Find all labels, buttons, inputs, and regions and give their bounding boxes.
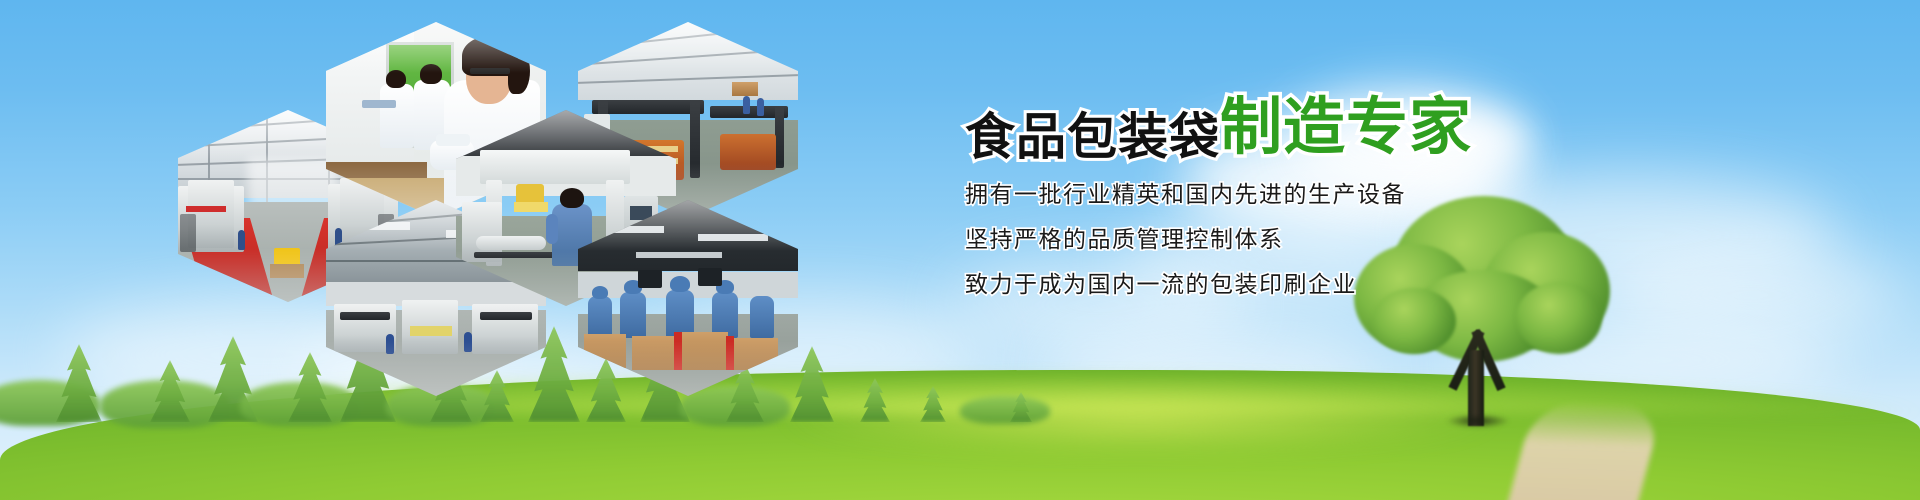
bush-icon xyxy=(960,396,1050,424)
promo-banner: 食品包装袋制造专家 拥有一批行业精英和国内先进的生产设备 坚持严格的品质管理控制… xyxy=(0,0,1920,500)
headline: 食品包装袋制造专家 xyxy=(965,96,1825,162)
headline-accent: 制造专家 xyxy=(1220,90,1472,163)
subline-1: 拥有一批行业精英和国内先进的生产设备 xyxy=(965,184,1825,207)
subline-3: 致力于成为国内一流的包装印刷企业 xyxy=(965,274,1825,297)
banner-copy: 食品包装袋制造专家 拥有一批行业精英和国内先进的生产设备 坚持严格的品质管理控制… xyxy=(965,96,1825,319)
subline-list: 拥有一批行业精英和国内先进的生产设备 坚持严格的品质管理控制体系 致力于成为国内… xyxy=(965,184,1825,297)
headline-primary: 食品包装袋 xyxy=(965,108,1220,166)
subline-2: 坚持严格的品质管理控制体系 xyxy=(965,229,1825,252)
hexagon-photo-collage xyxy=(0,0,820,420)
